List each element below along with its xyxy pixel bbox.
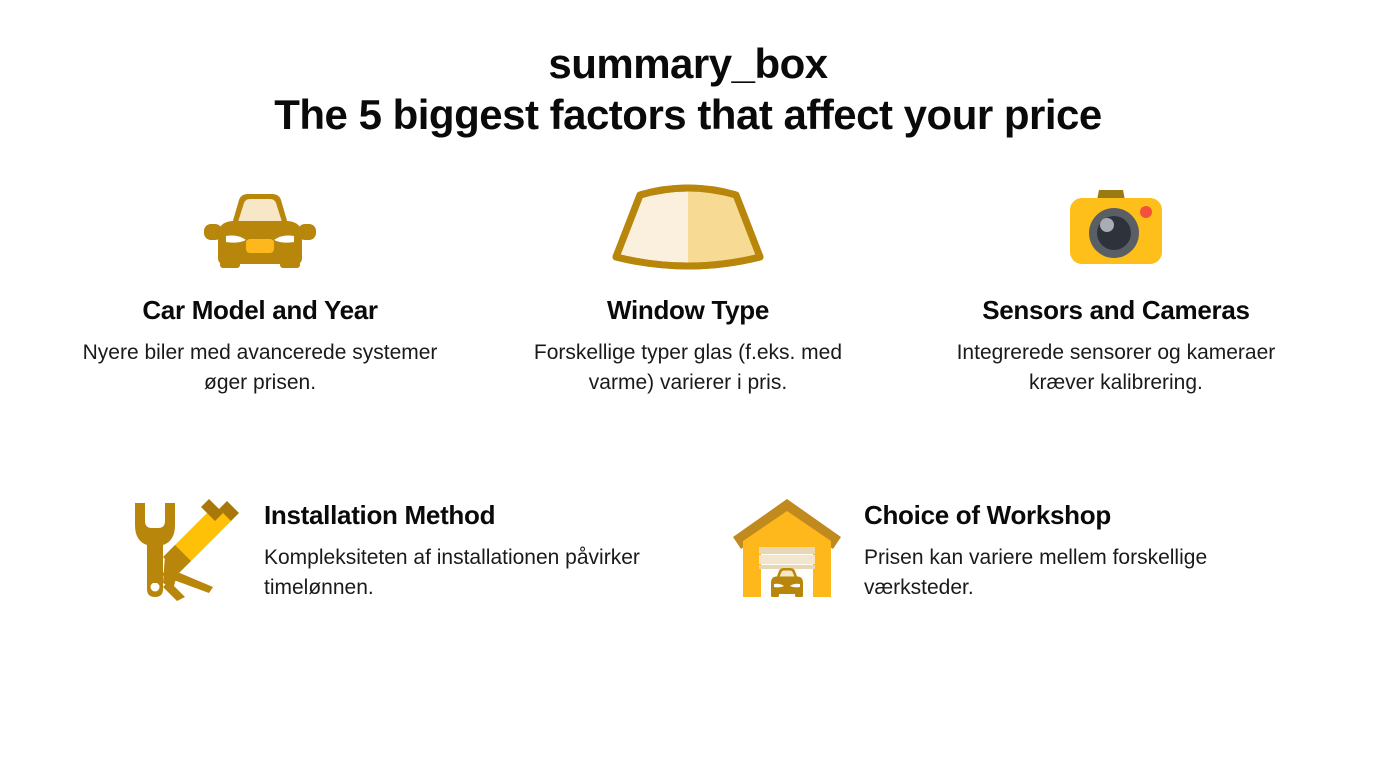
summary-box-page: summary_box The 5 biggest factors that a… (0, 0, 1376, 768)
factor-heading: Car Model and Year (142, 296, 377, 326)
factor-description: Kompleksiteten af installationen påvirke… (264, 543, 664, 604)
page-title: summary_box (0, 40, 1376, 87)
factor-heading: Installation Method (264, 501, 664, 531)
page-title-block: summary_box The 5 biggest factors that a… (0, 0, 1376, 138)
factor-card-window-type: Window Type Forskellige typer glas (f.ek… (474, 182, 902, 399)
windshield-icon (608, 182, 768, 274)
factor-card-choice-of-workshop: Choice of Workshop Prisen kan variere me… (728, 493, 1328, 605)
factor-heading: Choice of Workshop (864, 501, 1264, 531)
page-subtitle: The 5 biggest factors that affect your p… (0, 91, 1376, 138)
factor-heading: Sensors and Cameras (982, 296, 1249, 326)
factors-bottom-row: Installation Method Kompleksiteten af in… (0, 493, 1376, 605)
factor-text-block: Installation Method Kompleksiteten af in… (264, 493, 664, 604)
factor-description: Forskellige typer glas (f.eks. med varme… (508, 338, 868, 399)
factor-text-block: Choice of Workshop Prisen kan variere me… (864, 493, 1264, 604)
factors-top-row: Car Model and Year Nyere biler med avanc… (0, 182, 1376, 399)
garage-icon (728, 493, 846, 605)
factor-description: Prisen kan variere mellem forskellige væ… (864, 543, 1264, 604)
factor-card-sensors-and-cameras: Sensors and Cameras Integrerede sensorer… (902, 182, 1330, 399)
factor-description: Nyere biler med avancerede systemer øger… (80, 338, 440, 399)
camera-icon (1066, 182, 1166, 274)
factor-card-car-model-and-year: Car Model and Year Nyere biler med avanc… (46, 182, 474, 399)
factor-card-installation-method: Installation Method Kompleksiteten af in… (128, 493, 728, 605)
wrench-caulk-gun-icon (128, 493, 246, 605)
factor-heading: Window Type (607, 296, 769, 326)
car-front-icon (202, 182, 318, 274)
factor-description: Integrerede sensorer og kameraer kræver … (936, 338, 1296, 399)
